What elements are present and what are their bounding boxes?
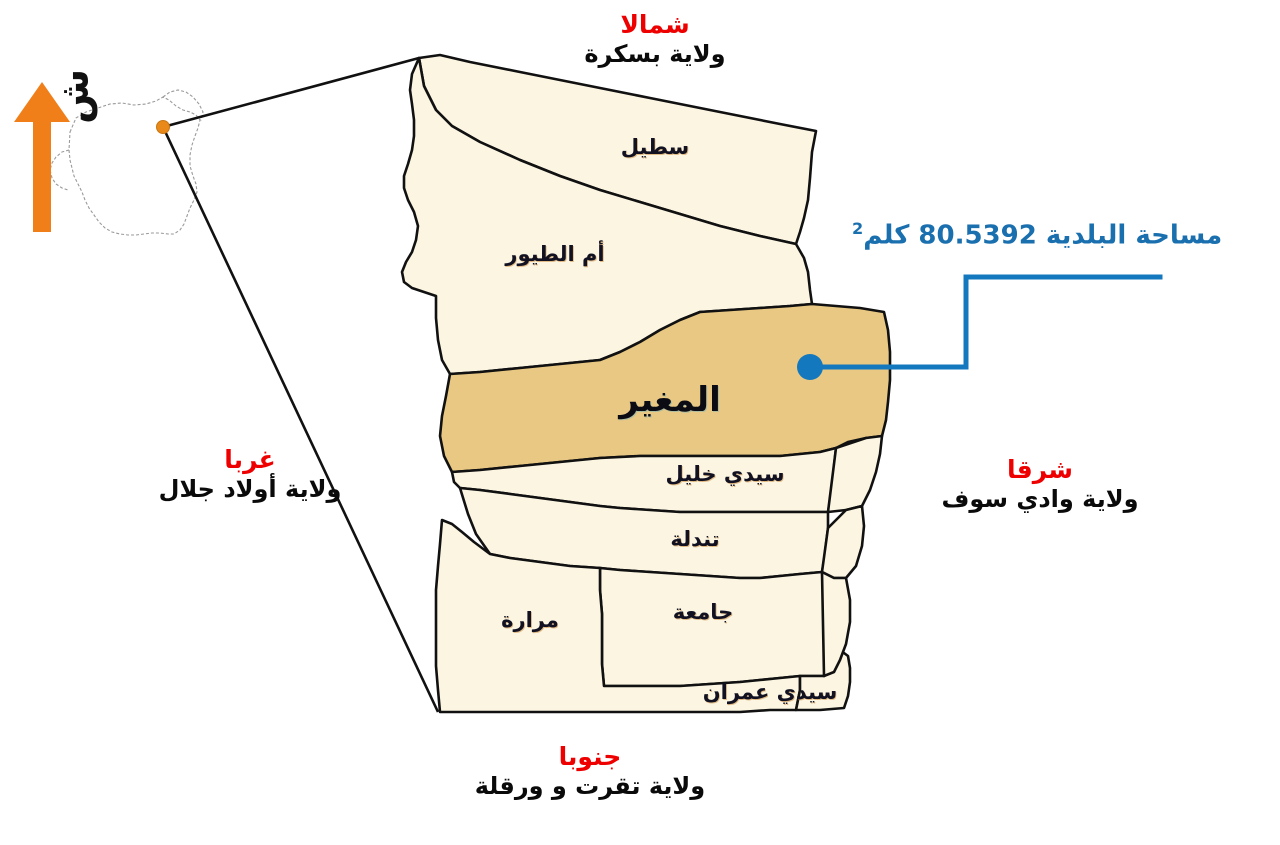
commune-label-sidi-amrane: سيدي عمران <box>680 680 860 706</box>
direction-east-secondary: ولاية وادي سوف <box>925 485 1155 513</box>
commune-label-el-meghaier: المغير <box>570 380 770 421</box>
inset-location-marker <box>157 121 170 134</box>
commune-djamaa[interactable] <box>600 568 828 686</box>
commune-label-stil: سطيل <box>595 135 715 161</box>
commune-label-mrara: مرارة <box>475 608 585 634</box>
direction-north-primary: شمالا <box>545 10 765 39</box>
zoom-leader-lines <box>163 58 438 712</box>
direction-south-secondary: ولاية تقرت و ورقلة <box>440 772 740 800</box>
commune-label-djamaa: جامعة <box>648 600 758 626</box>
direction-north-secondary: ولاية بسكرة <box>545 40 765 68</box>
map-graphic <box>0 0 1280 845</box>
direction-east: شرقا ولاية وادي سوف <box>925 455 1155 513</box>
area-callout-anchor-dot[interactable] <box>797 354 823 380</box>
north-arrow-label: ش <box>52 78 98 124</box>
area-callout-text: مساحة البلدية 80.5392 كلم2 <box>852 219 1222 251</box>
direction-north: شمالا ولاية بسكرة <box>545 10 765 68</box>
direction-south: جنوبا ولاية تقرت و ورقلة <box>440 742 740 800</box>
area-callout-exponent: 2 <box>852 219 863 238</box>
commune-label-tendla: تندلة <box>640 527 750 553</box>
direction-west: غربا ولاية أولاد جلال <box>135 445 365 503</box>
commune-east-lobe-upper[interactable] <box>828 436 882 512</box>
direction-west-secondary: ولاية أولاد جلال <box>135 475 365 503</box>
direction-south-primary: جنوبا <box>440 742 740 771</box>
map-canvas: ش مساحة البلدية 80.5392 كلم2 شمالا ولاية… <box>0 0 1280 845</box>
area-callout-prefix: مساحة البلدية 80.5392 كلم <box>863 221 1222 251</box>
commune-label-oum-touyour: أم الطيور <box>460 242 650 268</box>
direction-west-primary: غربا <box>135 445 365 474</box>
direction-east-primary: شرقا <box>925 455 1155 484</box>
commune-label-sidi-khelil: سيدي خليل <box>640 462 810 488</box>
